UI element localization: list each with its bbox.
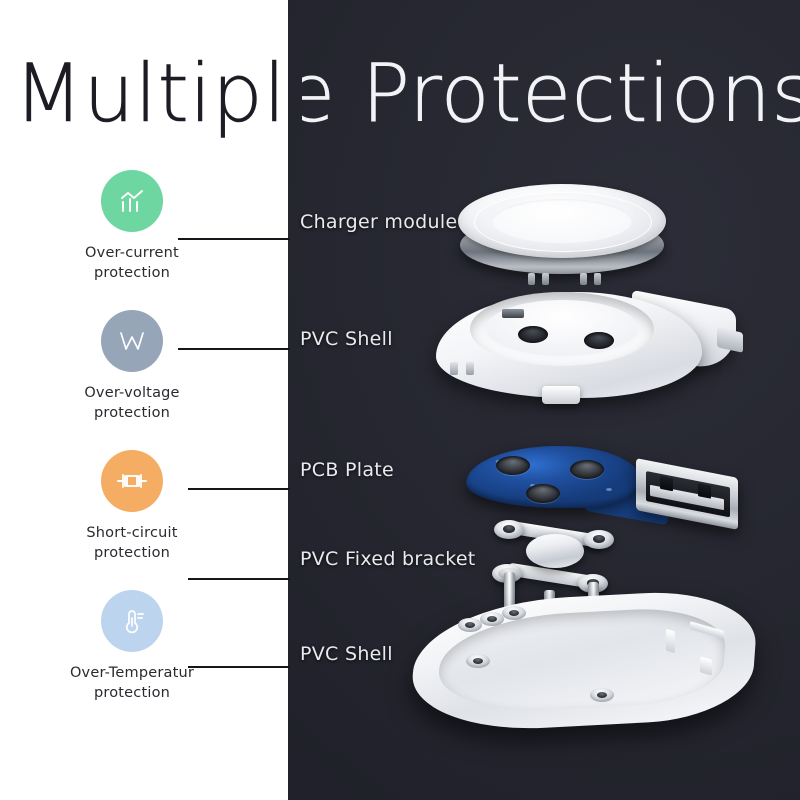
part-label-charger-module: Charger module [300,211,457,233]
page-title: Multiple Protections Multiple Protection… [0,46,800,142]
feature-label-line2: protection [48,543,216,563]
usb-notch [660,476,673,492]
leader-line-pvc-fixed-bracket [188,578,290,580]
bracket-eyelet [584,530,614,549]
watt-w-icon [101,310,163,372]
pcb-mount-hole [570,460,604,479]
bottom-shell-rib [700,656,712,675]
bottom-shell-rib [666,629,675,654]
feature-label-line1: Short-circuit [86,525,177,541]
pcb-mount-hole [496,456,530,475]
bottom-shell-boss [590,688,614,702]
usb-notch [698,483,711,499]
feature-label: Over-voltage protection [48,383,216,423]
bottom-shell-boss [480,612,504,626]
feature-label-line1: Over-current [85,245,179,261]
resistor-fuse-icon [101,450,163,512]
top-shell-screw-hole [584,332,614,349]
leader-line-charger-module [178,238,290,240]
feature-short-circuit: Short-circuit protection [48,450,216,563]
bar-chart-trend-icon [101,170,163,232]
bottom-shell-boss [502,606,526,620]
feature-over-voltage: Over-voltage protection [48,310,216,423]
product-infographic: Multiple Protections Multiple Protection… [0,0,800,800]
top-shell-tab [542,386,580,404]
top-shell-foot [450,362,458,375]
charger-module-inner-ring [492,199,632,243]
feature-label: Short-circuit protection [48,523,216,563]
bottom-shell-boss [458,618,482,632]
leader-line-top-pvc-shell [178,348,290,350]
part-label-bottom-pvc-shell: PVC Shell [300,643,393,665]
top-shell-screw-hole [518,326,548,343]
top-shell-foot [466,362,474,375]
feature-over-current: Over-current protection [48,170,216,283]
leader-line-bottom-pvc-shell [188,666,290,668]
top-pvc-shell-art [436,278,736,418]
feature-label-line1: Over-voltage [84,385,179,401]
feature-label: Over-current protection [48,243,216,283]
charger-module-art [452,172,672,280]
feature-label-line1: Over-Temperatur [70,665,194,681]
thermometer-icon [101,590,163,652]
feature-label-line2: protection [48,403,216,423]
pcb-trace-speck [606,488,612,491]
pcb-mount-hole [526,484,560,503]
leader-line-pcb-plate [188,488,290,490]
top-shell-slot [502,309,524,318]
bottom-shell-boss [466,654,490,668]
feature-label: Over-Temperatur protection [48,663,216,703]
bracket-hub [526,534,584,568]
feature-label-line2: protection [48,683,216,703]
part-label-top-pvc-shell: PVC Shell [300,328,393,350]
bottom-pvc-shell-art [414,596,754,732]
feature-over-temperature: Over-Temperatur protection [48,590,216,703]
part-label-pcb-plate: PCB Plate [300,459,394,481]
bracket-eyelet [494,520,524,539]
part-label-pvc-fixed-bracket: PVC Fixed bracket [300,548,476,570]
feature-label-line2: protection [48,263,216,283]
